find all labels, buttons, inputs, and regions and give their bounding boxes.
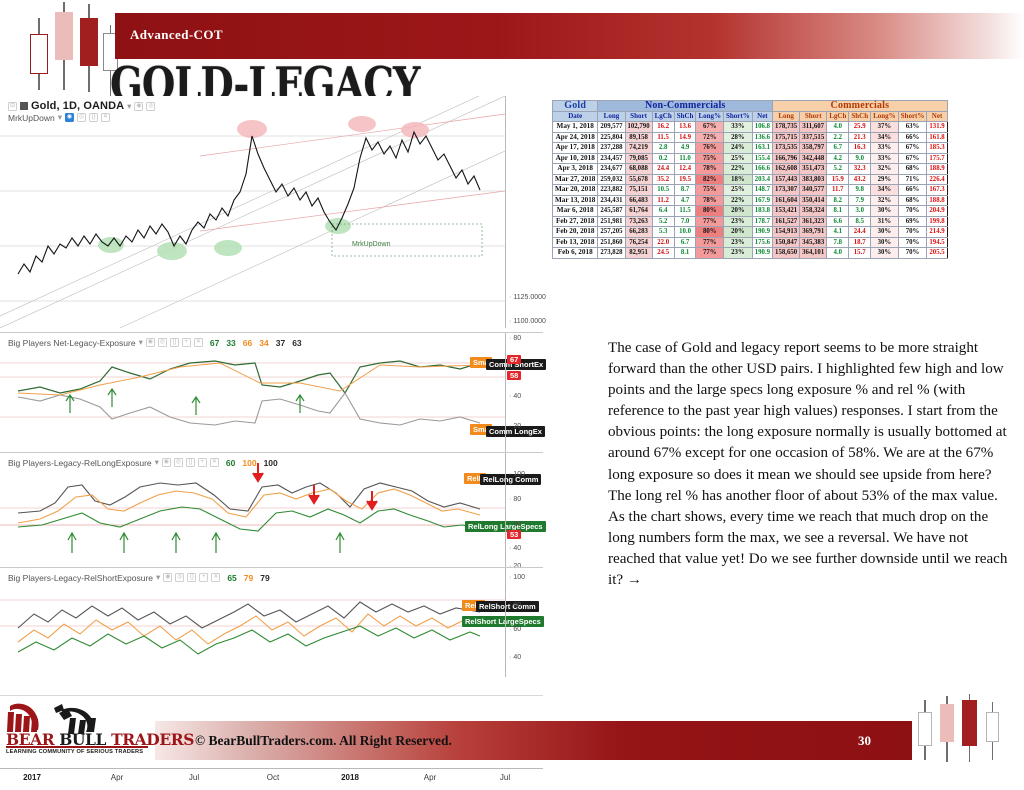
cell-cm-lgch: 4.0 [827,248,849,259]
cell-nc-lgch: 22.0 [652,237,674,248]
col-cm-shch: ShCh [849,111,871,122]
cell-nc-net: 190.9 [752,248,772,259]
cell-cm-long: 173,535 [773,143,800,154]
cell-nc-lgch: 5.3 [652,227,674,238]
cell-nc-shch: 6.7 [674,237,696,248]
group-header-commercials: Commercials [773,101,948,112]
cell-nc-shortpct: 20% [724,206,753,217]
cell-cm-shch: 7.9 [849,195,871,206]
cell-cm-shortpct: 66% [898,185,927,196]
cell-cm-shortpct: 71% [898,174,927,185]
x-tick: Jul [500,773,510,782]
cell-cm-long: 161,527 [773,216,800,227]
cell-cm-long: 178,735 [773,122,800,133]
cell-cm-short: 351,473 [800,164,827,175]
cell-nc-longpct: 77% [696,248,724,259]
table-row[interactable]: Mar 20, 2018223,88275,15110.58.775%25%14… [553,185,948,196]
cell-nc-short: 79,085 [625,153,652,164]
x-tick: Jul [189,773,199,782]
col-nc-lgch: LgCh [652,111,674,122]
cell-nc-long: 273,828 [598,248,625,259]
cell-nc-shch: 11.0 [674,153,696,164]
cell-nc-lgch: 16.2 [652,122,674,133]
price-series: MrkUpDown [0,96,505,328]
cell-nc-short: 73,263 [625,216,652,227]
cell-cm-net: 205.5 [927,248,947,259]
cell-cm-longpct: 34% [871,132,899,143]
panel1-series [0,333,505,453]
cell-cm-shch: 32.3 [849,164,871,175]
cell-cm-short: 358,324 [800,206,827,217]
cell-date: Mar 6, 2018 [553,206,598,217]
table-column-header-row: Date Long Short LgCh ShCh Long% Short% N… [553,111,948,122]
cell-nc-net: 136.6 [752,132,772,143]
cell-nc-long: 259,032 [598,174,625,185]
cell-nc-shortpct: 33% [724,122,753,133]
cell-nc-longpct: 82% [696,174,724,185]
cell-nc-lgch: 11.5 [652,132,674,143]
cell-cm-shortpct: 67% [898,143,927,154]
cell-cm-lgch: 4.1 [827,227,849,238]
cell-cm-shch: 18.7 [849,237,871,248]
price-axis[interactable]: 1125.0000 1100.0000 [505,96,543,328]
cell-cm-short: 340,577 [800,185,827,196]
cell-cm-net: 175.7 [927,153,947,164]
col-cm-shortpct: Short% [898,111,927,122]
table-row[interactable]: Mar 6, 2018245,58761,7646.411.580%20%183… [553,206,948,217]
tradingview-chart[interactable]: ⊟ Gold, 1D, OANDA ▾ ◉ ◎ MrkUpDown ▾ ◉ ◎ … [0,96,543,696]
cell-cm-short: 364,101 [800,248,827,259]
cell-cm-long: 150,847 [773,237,800,248]
cell-cm-net: 194.5 [927,237,947,248]
cell-nc-lgch: 35.2 [652,174,674,185]
cell-cm-longpct: 30% [871,227,899,238]
decor-candle-8 [986,702,999,760]
cell-cm-net: 161.8 [927,132,947,143]
cell-date: Feb 6, 2018 [553,248,598,259]
panel1-tick: 40 [509,393,521,400]
cell-nc-net: 148.7 [752,185,772,196]
table-row[interactable]: Apr 24, 2018225,80489,15811.514.972%28%1… [553,132,948,143]
cell-cm-net: 204.9 [927,206,947,217]
table-row[interactable]: Feb 6, 2018273,82882,95124.58.177%23%190… [553,248,948,259]
logo-rule [6,746,148,748]
cell-cm-shch: 9.0 [849,153,871,164]
cell-cm-lgch: 7.8 [827,237,849,248]
panel2-tick: 80 [509,496,521,503]
cell-cm-net: 185.3 [927,143,947,154]
group-header-non-commercials: Non-Commercials [598,101,773,112]
panel2-series [0,453,505,568]
cell-cm-longpct: 31% [871,216,899,227]
table-body: May 1, 2018209,577102,79016.213.667%33%1… [553,122,948,259]
cell-nc-shortpct: 24% [724,143,753,154]
cell-cm-short: 311,607 [800,122,827,133]
x-tick: Apr [111,773,123,782]
cell-cm-shortpct: 70% [898,227,927,238]
col-nc-long: Long [598,111,625,122]
cell-nc-net: 163.1 [752,143,772,154]
cell-nc-shch: 7.0 [674,216,696,227]
cell-cm-shortpct: 70% [898,248,927,259]
cell-nc-net: 190.9 [752,227,772,238]
cell-cm-long: 158,650 [773,248,800,259]
cell-cm-long: 153,421 [773,206,800,217]
col-cm-long: Long [773,111,800,122]
decor-candle-2 [55,2,73,90]
cell-cm-longpct: 33% [871,143,899,154]
cell-cm-long: 175,715 [773,132,800,143]
cell-nc-long: 234,457 [598,153,625,164]
cell-nc-lgch: 0.2 [652,153,674,164]
cell-nc-longpct: 77% [696,237,724,248]
page-number: 30 [858,733,871,749]
cell-nc-net: 183.8 [752,206,772,217]
panel3-tick: 40 [509,654,521,661]
cell-cm-lgch: 4.0 [827,122,849,133]
cell-nc-long: 234,677 [598,164,625,175]
x-tick: 2017 [23,773,41,782]
col-cm-longpct: Long% [871,111,899,122]
panel3-tick: 80 [509,602,521,609]
table-row[interactable]: Mar 27, 2018259,03255,67835.219.582%18%2… [553,174,948,185]
cell-nc-short: 55,678 [625,174,652,185]
cell-cm-lgch: 8.1 [827,206,849,217]
cell-nc-short: 66,283 [625,227,652,238]
cell-cm-shortpct: 69% [898,216,927,227]
cell-cm-lgch: 6.7 [827,143,849,154]
header-banner [115,13,1024,59]
cell-nc-short: 82,951 [625,248,652,259]
col-cm-net: Net [927,111,947,122]
cell-cm-lgch: 15.9 [827,174,849,185]
panel2-tick: 40 [509,545,521,552]
cell-nc-short: 102,790 [625,122,652,133]
cell-cm-shch: 3.0 [849,206,871,217]
col-nc-net: Net [752,111,772,122]
cell-cm-short: 350,414 [800,195,827,206]
cell-nc-long: 251,981 [598,216,625,227]
decor-candle-6 [940,696,954,762]
cell-nc-shortpct: 25% [724,185,753,196]
cell-cm-net: 199.8 [927,216,947,227]
cell-date: May 1, 2018 [553,122,598,133]
cell-nc-shortpct: 20% [724,227,753,238]
cell-nc-short: 89,158 [625,132,652,143]
decor-candle-5 [918,700,932,760]
cell-cm-shch: 25.9 [849,122,871,133]
col-nc-short: Short [625,111,652,122]
cell-nc-shch: 4.9 [674,143,696,154]
cell-nc-long: 245,587 [598,206,625,217]
cell-date: Feb 27, 2018 [553,216,598,227]
panel3-axis[interactable]: 100 80 60 40 [505,568,543,677]
cell-nc-longpct: 77% [696,216,724,227]
cell-cm-net: 188.8 [927,195,947,206]
cell-cm-shortpct: 70% [898,237,927,248]
cell-nc-shch: 10.0 [674,227,696,238]
cell-nc-long: 225,804 [598,132,625,143]
cell-nc-shortpct: 23% [724,248,753,259]
cell-nc-longpct: 75% [696,153,724,164]
panel1-axis[interactable]: 80 67 58 40 20 [505,333,543,452]
cell-nc-net: 166.6 [752,164,772,175]
cell-cm-long: 157,443 [773,174,800,185]
cell-cm-long: 166,796 [773,153,800,164]
table-row[interactable]: May 1, 2018209,577102,79016.213.667%33%1… [553,122,948,133]
price-tick: 1100.0000 [509,318,546,325]
panel-net-legacy-exposure[interactable]: Big Players Net-Legacy-Exposure ▾ ◉ ◎ {}… [0,332,543,452]
cell-cm-net: 167.3 [927,185,947,196]
decor-candle-7 [962,694,977,762]
cell-cm-shch: 24.4 [849,227,871,238]
cell-cm-short: 337,515 [800,132,827,143]
cell-cm-shch: 9.8 [849,185,871,196]
cell-nc-shch: 4.7 [674,195,696,206]
table-row[interactable]: Apr 10, 2018234,45779,0850.211.075%25%15… [553,153,948,164]
cell-nc-long: 223,882 [598,185,625,196]
cell-nc-net: 106.8 [752,122,772,133]
cell-cm-net: 226.4 [927,174,947,185]
cell-nc-longpct: 80% [696,227,724,238]
cell-cm-net: 131.9 [927,122,947,133]
decor-candle-3 [80,4,98,92]
cell-nc-shortpct: 23% [724,216,753,227]
col-nc-shch: ShCh [674,111,696,122]
cell-nc-shch: 11.5 [674,206,696,217]
panel3-series [0,568,505,678]
panel1-badge-58: 58 [507,371,521,380]
table-row[interactable]: Feb 13, 2018251,86076,25422.06.777%23%17… [553,237,948,248]
cell-cm-net: 188.9 [927,164,947,175]
cell-cm-shch: 21.3 [849,132,871,143]
cell-nc-net: 178.7 [752,216,772,227]
panel3-tick: 60 [509,626,521,633]
cell-nc-shortpct: 23% [724,237,753,248]
cell-nc-lgch: 11.2 [652,195,674,206]
cell-nc-net: 203.4 [752,174,772,185]
footer-copyright: © BearBullTraders.com. All Right Reserve… [195,733,452,749]
cell-nc-lgch: 24.5 [652,248,674,259]
cell-cm-shortpct: 68% [898,195,927,206]
cell-cm-longpct: 32% [871,195,899,206]
panel-price[interactable]: ⊟ Gold, 1D, OANDA ▾ ◉ ◎ MrkUpDown ▾ ◉ ◎ … [0,96,543,328]
cell-nc-longpct: 80% [696,206,724,217]
cell-nc-net: 155.4 [752,153,772,164]
cell-nc-shortpct: 25% [724,153,753,164]
cell-nc-shch: 14.9 [674,132,696,143]
header-kicker: Advanced-COT [130,27,223,43]
cell-nc-net: 167.9 [752,195,772,206]
cell-nc-short: 61,764 [625,206,652,217]
cell-cm-shortpct: 68% [898,164,927,175]
cell-cm-longpct: 37% [871,122,899,133]
cell-nc-shortpct: 18% [724,174,753,185]
cell-nc-shortpct: 28% [724,132,753,143]
cell-cm-lgch: 11.7 [827,185,849,196]
cell-cm-long: 154,913 [773,227,800,238]
cell-cm-shortpct: 67% [898,153,927,164]
cell-cm-lgch: 8.2 [827,195,849,206]
cell-nc-net: 175.6 [752,237,772,248]
cell-cm-shch: 15.7 [849,248,871,259]
cell-nc-lgch: 6.4 [652,206,674,217]
commentary-paragraph: The case of Gold and legacy report seems… [608,338,1016,591]
cell-nc-longpct: 78% [696,164,724,175]
cell-nc-short: 74,219 [625,143,652,154]
cell-cm-lgch: 4.2 [827,153,849,164]
cell-cm-lgch: 5.2 [827,164,849,175]
cell-date: Apr 17, 2018 [553,143,598,154]
cell-nc-shch: 8.1 [674,248,696,259]
cell-nc-long: 251,860 [598,237,625,248]
decor-candle-1 [30,18,48,90]
col-cm-lgch: LgCh [827,111,849,122]
cell-nc-longpct: 78% [696,195,724,206]
x-tick: Apr [424,773,436,782]
chart-x-axis[interactable]: 2017 Apr Jul Oct 2018 Apr Jul [0,768,543,790]
cell-nc-lgch: 24.4 [652,164,674,175]
cell-nc-shch: 19.5 [674,174,696,185]
cell-nc-short: 68,088 [625,164,652,175]
cell-cm-long: 173,307 [773,185,800,196]
cell-date: Mar 20, 2018 [553,185,598,196]
svg-text:MrkUpDown: MrkUpDown [352,241,391,248]
cell-nc-longpct: 67% [696,122,724,133]
panel2-tick: 100 [509,471,525,478]
cell-nc-long: 237,288 [598,143,625,154]
x-tick: Oct [267,773,279,782]
table-row[interactable]: Feb 27, 2018251,98173,2635.27.077%23%178… [553,216,948,227]
panel1-badge-67: 67 [507,355,521,364]
cell-cm-short: 358,797 [800,143,827,154]
cell-cm-shch: 16.3 [849,143,871,154]
cell-cm-short: 342,448 [800,153,827,164]
cell-nc-long: 209,577 [598,122,625,133]
logo-tagline: LEARNING COMMUNITY OF SERIOUS TRADERS [6,749,143,755]
cell-cm-shch: 8.5 [849,216,871,227]
col-nc-longpct: Long% [696,111,724,122]
panel1-tick: 20 [509,423,521,430]
price-tick: 1125.0000 [509,294,546,301]
cell-nc-lgch: 5.2 [652,216,674,227]
cell-cm-short: 345,383 [800,237,827,248]
cell-cm-shortpct: 66% [898,132,927,143]
panel2-axis[interactable]: 100 80 60 53 40 20 [505,453,543,567]
cell-cm-net: 214.9 [927,227,947,238]
cell-nc-short: 76,254 [625,237,652,248]
table-row[interactable]: Feb 20, 2018257,20566,2835.310.080%20%19… [553,227,948,238]
cell-date: Apr 10, 2018 [553,153,598,164]
cell-cm-lgch: 6.6 [827,216,849,227]
cell-cm-short: 369,791 [800,227,827,238]
cell-nc-shch: 13.6 [674,122,696,133]
cell-nc-long: 234,431 [598,195,625,206]
cell-nc-lgch: 10.5 [652,185,674,196]
panel2-tick: 60 [509,521,521,528]
cot-data-table[interactable]: Gold Non-Commercials Commercials Date Lo… [552,100,948,259]
cell-cm-shch: 43.2 [849,174,871,185]
cell-cm-longpct: 30% [871,237,899,248]
cell-date: Apr 3, 2018 [553,164,598,175]
group-header-gold: Gold [553,101,598,112]
table-row[interactable]: Apr 3, 2018234,67768,08824.412.478%22%16… [553,164,948,175]
cell-nc-shortpct: 22% [724,195,753,206]
cell-nc-longpct: 76% [696,143,724,154]
cell-nc-lgch: 2.8 [652,143,674,154]
cell-cm-short: 361,323 [800,216,827,227]
col-date: Date [553,111,598,122]
cell-date: Mar 27, 2018 [553,174,598,185]
cell-date: Apr 24, 2018 [553,132,598,143]
cell-cm-longpct: 30% [871,206,899,217]
col-nc-shortpct: Short% [724,111,753,122]
cell-date: Feb 20, 2018 [553,227,598,238]
cell-cm-short: 383,803 [800,174,827,185]
table-row[interactable]: Apr 17, 2018237,28874,2192.84.976%24%163… [553,143,948,154]
cell-cm-shortpct: 70% [898,206,927,217]
cell-cm-longpct: 29% [871,174,899,185]
cell-cm-long: 162,608 [773,164,800,175]
cell-cm-shortpct: 63% [898,122,927,133]
cell-cm-longpct: 34% [871,185,899,196]
cell-cm-longpct: 32% [871,164,899,175]
x-tick: 2018 [341,773,359,782]
panel2-badge-53: 53 [507,530,521,539]
cell-date: Mar 13, 2018 [553,195,598,206]
cell-nc-longpct: 72% [696,132,724,143]
panel1-tick: 80 [509,335,521,342]
cell-cm-long: 161,604 [773,195,800,206]
panel-rel-long-exposure[interactable]: Big Players-Legacy-RelLongExposure ▾ ◉ ◎… [0,452,543,567]
cell-nc-short: 75,151 [625,185,652,196]
cell-cm-longpct: 33% [871,153,899,164]
cell-cm-lgch: 2.2 [827,132,849,143]
cell-nc-shch: 8.7 [674,185,696,196]
col-cm-short: Short [800,111,827,122]
cell-nc-short: 66,483 [625,195,652,206]
cell-date: Feb 13, 2018 [553,237,598,248]
cell-nc-longpct: 75% [696,185,724,196]
table-group-header-row: Gold Non-Commercials Commercials [553,101,948,112]
table-row[interactable]: Mar 13, 2018234,43166,48311.24.778%22%16… [553,195,948,206]
panel3-tick: 100 [509,574,525,581]
panel-rel-short-exposure[interactable]: Big Players-Legacy-RelShortExposure ▾ ◉ … [0,567,543,677]
cell-nc-long: 257,205 [598,227,625,238]
cell-nc-shch: 12.4 [674,164,696,175]
cell-cm-longpct: 30% [871,248,899,259]
cell-nc-shortpct: 22% [724,164,753,175]
